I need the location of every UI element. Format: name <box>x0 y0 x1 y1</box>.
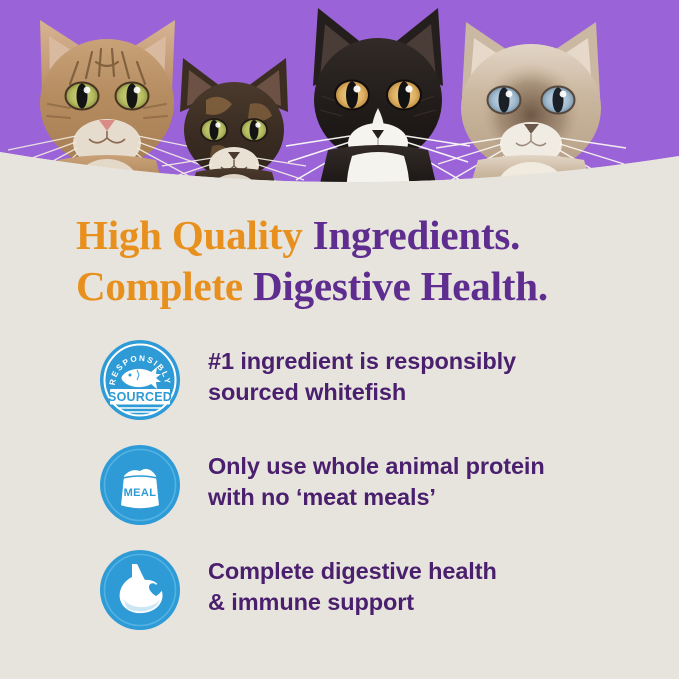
meal-label: MEAL <box>124 487 157 499</box>
headline-line1-orange: High Quality <box>76 212 313 258</box>
headline-line2-purple: Digestive Health. <box>253 263 548 309</box>
list-item-text: #1 ingredient is responsibly sourced whi… <box>208 346 638 408</box>
list-item: RESPONSIBLY SOURCED #1 ingredien <box>0 336 679 441</box>
list-item-text: Complete digestive health & immune suppo… <box>208 556 638 618</box>
responsibly-sourced-badge-icon: RESPONSIBLY SOURCED <box>99 339 181 421</box>
stomach-heart-icon <box>99 549 181 631</box>
list-item: Complete digestive health & immune suppo… <box>0 546 679 651</box>
headline-line-1: High Quality Ingredients. <box>76 210 656 261</box>
list-item-line2: with no ‘meat meals’ <box>208 482 638 513</box>
list-item-line2: & immune support <box>208 587 638 618</box>
list-item-line1: #1 ingredient is responsibly <box>208 348 516 374</box>
product-feature-panel: High Quality Ingredients. Complete Diges… <box>0 0 679 679</box>
list-item-line1: Complete digestive health <box>208 558 497 584</box>
list-item-line2: sourced whitefish <box>208 377 638 408</box>
hero-banner <box>0 0 679 200</box>
list-item-text: Only use whole animal protein with no ‘m… <box>208 451 638 513</box>
badge-main-text: SOURCED <box>108 390 172 404</box>
meal-bag-icon: MEAL <box>99 444 181 526</box>
headline-line1-purple: Ingredients. <box>313 212 521 258</box>
hero-wave-divider <box>0 140 679 200</box>
list-item-line1: Only use whole animal protein <box>208 453 545 479</box>
list-item: MEAL Only use whole animal protein with … <box>0 441 679 546</box>
headline-line-2: Complete Digestive Health. <box>76 261 656 312</box>
page-title: High Quality Ingredients. Complete Diges… <box>76 210 656 312</box>
headline-line2-orange: Complete <box>76 263 253 309</box>
feature-list: RESPONSIBLY SOURCED #1 ingredien <box>0 336 679 651</box>
